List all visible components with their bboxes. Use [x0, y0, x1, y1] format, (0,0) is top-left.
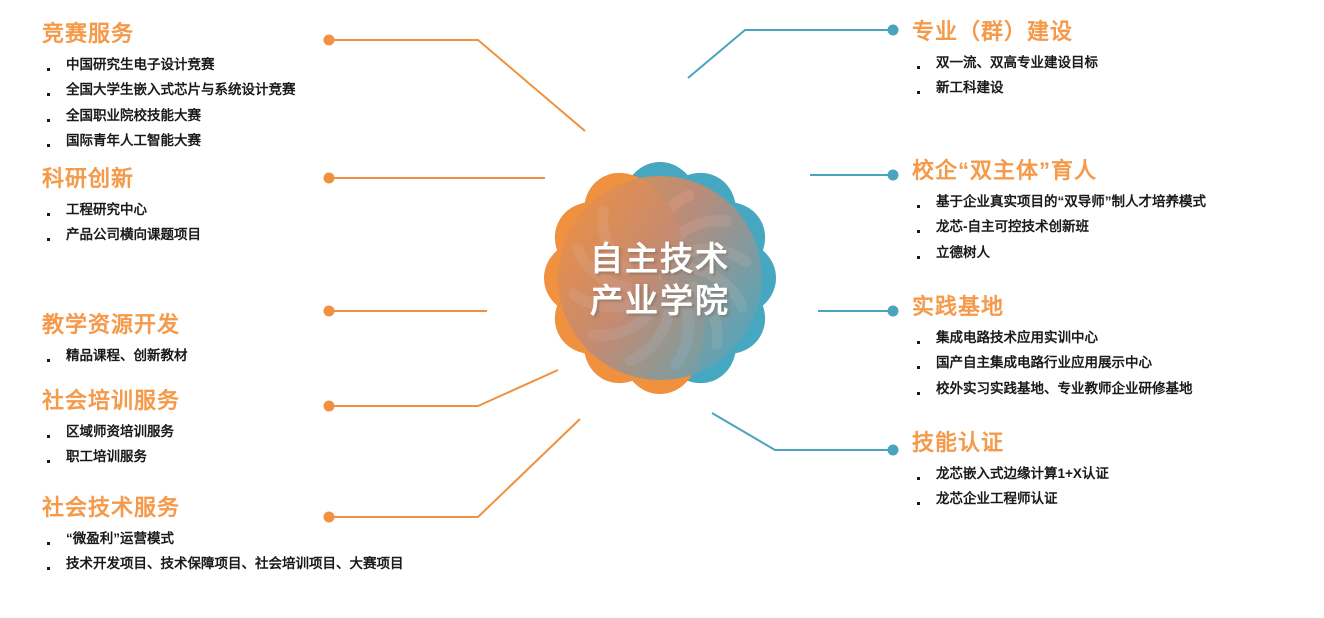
list-item: 立德树人 — [912, 246, 1206, 260]
central-flower-graphic: 自主技术 产业学院 — [460, 78, 860, 478]
list-item: 双一流、双高专业建设目标 — [912, 56, 1098, 70]
bullet-icon — [917, 502, 920, 505]
list-item-label: “微盈利”运营模式 — [66, 531, 174, 546]
list-item: 中国研究生电子设计竞赛 — [42, 58, 296, 72]
list-item: 精品课程、创新教材 — [42, 349, 188, 363]
list-item-label: 龙芯-自主可控技术创新班 — [936, 219, 1089, 234]
block-item-list: 集成电路技术应用实训中心 国产自主集成电路行业应用展示中心 校外实习实践基地、专… — [912, 331, 1193, 396]
list-item: 职工培训服务 — [42, 450, 180, 464]
block-title: 科研创新 — [42, 167, 201, 191]
bullet-icon — [917, 230, 920, 233]
block-title: 实践基地 — [912, 295, 1193, 319]
block-title: 教学资源开发 — [42, 313, 188, 337]
connector-dot-right-2 — [888, 170, 899, 181]
list-item: 工程研究中心 — [42, 203, 201, 217]
bullet-icon — [917, 66, 920, 69]
list-item-label: 产品公司横向课题项目 — [66, 227, 201, 242]
list-item-label: 全国大学生嵌入式芯片与系统设计竞赛 — [66, 82, 296, 97]
list-item: 龙芯-自主可控技术创新班 — [912, 220, 1206, 234]
bullet-icon — [917, 366, 920, 369]
bullet-icon — [47, 213, 50, 216]
block-title: 校企“双主体”育人 — [912, 159, 1206, 183]
block-practice-base: 实践基地 集成电路技术应用实训中心 国产自主集成电路行业应用展示中心 校外实习实… — [912, 295, 1193, 396]
list-item-label: 技术开发项目、技术保障项目、社会培训项目、大赛项目 — [66, 556, 404, 571]
infographic-canvas: 自主技术 产业学院 竞赛服务 中国研究生电子设计竞赛 全国大学生嵌入式芯片与系统… — [0, 0, 1324, 618]
block-title: 专业（群）建设 — [912, 20, 1098, 44]
block-social-technology-service: 社会技术服务 “微盈利”运营模式 技术开发项目、技术保障项目、社会培训项目、大赛… — [42, 496, 404, 572]
block-title: 社会培训服务 — [42, 389, 180, 413]
block-title: 社会技术服务 — [42, 496, 404, 520]
bullet-icon — [917, 256, 920, 259]
bullet-icon — [47, 119, 50, 122]
list-item: 基于企业真实项目的“双导师”制人才培养模式 — [912, 195, 1206, 209]
bullet-icon — [47, 460, 50, 463]
bullet-icon — [47, 144, 50, 147]
block-social-training-service: 社会培训服务 区域师资培训服务 职工培训服务 — [42, 389, 180, 465]
connector-dot-right-3 — [888, 306, 899, 317]
list-item: 集成电路技术应用实训中心 — [912, 331, 1193, 345]
block-item-list: 精品课程、创新教材 — [42, 349, 188, 363]
list-item-label: 职工培训服务 — [66, 449, 147, 464]
connector-dot-left-1 — [324, 35, 335, 46]
block-item-list: 双一流、双高专业建设目标 新工科建设 — [912, 56, 1098, 95]
list-item: 技术开发项目、技术保障项目、社会培训项目、大赛项目 — [42, 557, 404, 571]
list-item: 国际青年人工智能大赛 — [42, 134, 296, 148]
bullet-icon — [917, 91, 920, 94]
list-item-label: 全国职业院校技能大赛 — [66, 108, 201, 123]
block-item-list: 龙芯嵌入式边缘计算1+X认证 龙芯企业工程师认证 — [912, 467, 1109, 506]
list-item: 校外实习实践基地、专业教师企业研修基地 — [912, 382, 1193, 396]
connector-dot-right-4 — [888, 445, 899, 456]
connector-dot-right-1 — [888, 25, 899, 36]
list-item-label: 国际青年人工智能大赛 — [66, 133, 201, 148]
center-disc — [558, 176, 762, 380]
list-item-label: 区域师资培训服务 — [66, 424, 174, 439]
list-item-label: 新工科建设 — [936, 80, 1004, 95]
list-item-label: 集成电路技术应用实训中心 — [936, 330, 1098, 345]
bullet-icon — [47, 542, 50, 545]
block-research-innovation: 科研创新 工程研究中心 产品公司横向课题项目 — [42, 167, 201, 243]
block-item-list: 工程研究中心 产品公司横向课题项目 — [42, 203, 201, 242]
list-item-label: 立德树人 — [936, 245, 990, 260]
block-major-cluster-construction: 专业（群）建设 双一流、双高专业建设目标 新工科建设 — [912, 20, 1098, 96]
connector-dot-left-4 — [324, 401, 335, 412]
list-item: 新工科建设 — [912, 81, 1098, 95]
bullet-icon — [47, 93, 50, 96]
bullet-icon — [47, 68, 50, 71]
list-item: “微盈利”运营模式 — [42, 532, 404, 546]
list-item-label: 校外实习实践基地、专业教师企业研修基地 — [936, 381, 1193, 396]
list-item-label: 双一流、双高专业建设目标 — [936, 55, 1098, 70]
center-title-line2: 产业学院 — [590, 282, 730, 319]
block-item-list: 中国研究生电子设计竞赛 全国大学生嵌入式芯片与系统设计竞赛 全国职业院校技能大赛… — [42, 58, 296, 148]
list-item: 区域师资培训服务 — [42, 425, 180, 439]
connector-dot-left-2 — [324, 173, 335, 184]
block-school-enterprise-dual-subject: 校企“双主体”育人 基于企业真实项目的“双导师”制人才培养模式 龙芯-自主可控技… — [912, 159, 1206, 260]
connector-dot-left-3 — [324, 306, 335, 317]
list-item: 全国职业院校技能大赛 — [42, 109, 296, 123]
list-item: 产品公司横向课题项目 — [42, 228, 201, 242]
list-item: 龙芯嵌入式边缘计算1+X认证 — [912, 467, 1109, 481]
bullet-icon — [47, 238, 50, 241]
bullet-icon — [917, 205, 920, 208]
list-item-label: 基于企业真实项目的“双导师”制人才培养模式 — [936, 194, 1206, 209]
block-teaching-resource-development: 教学资源开发 精品课程、创新教材 — [42, 313, 188, 363]
bullet-icon — [47, 567, 50, 570]
block-title: 技能认证 — [912, 431, 1109, 455]
bullet-icon — [917, 341, 920, 344]
bullet-icon — [47, 359, 50, 362]
list-item-label: 龙芯企业工程师认证 — [936, 491, 1058, 506]
list-item-label: 工程研究中心 — [66, 202, 147, 217]
center-title-line1: 自主技术 — [590, 240, 730, 277]
block-item-list: 基于企业真实项目的“双导师”制人才培养模式 龙芯-自主可控技术创新班 立德树人 — [912, 195, 1206, 260]
list-item-label: 国产自主集成电路行业应用展示中心 — [936, 355, 1152, 370]
block-item-list: “微盈利”运营模式 技术开发项目、技术保障项目、社会培训项目、大赛项目 — [42, 532, 404, 571]
list-item: 国产自主集成电路行业应用展示中心 — [912, 356, 1193, 370]
block-skill-certification: 技能认证 龙芯嵌入式边缘计算1+X认证 龙芯企业工程师认证 — [912, 431, 1109, 507]
block-item-list: 区域师资培训服务 职工培训服务 — [42, 425, 180, 464]
connector-right-1 — [688, 30, 893, 78]
block-title: 竞赛服务 — [42, 22, 296, 46]
list-item-label: 精品课程、创新教材 — [66, 348, 188, 363]
bullet-icon — [917, 477, 920, 480]
bullet-icon — [47, 435, 50, 438]
block-competition-service: 竞赛服务 中国研究生电子设计竞赛 全国大学生嵌入式芯片与系统设计竞赛 全国职业院… — [42, 22, 296, 148]
bullet-icon — [917, 392, 920, 395]
list-item-label: 中国研究生电子设计竞赛 — [66, 57, 215, 72]
list-item-label: 龙芯嵌入式边缘计算1+X认证 — [936, 466, 1109, 481]
list-item: 龙芯企业工程师认证 — [912, 492, 1109, 506]
list-item: 全国大学生嵌入式芯片与系统设计竞赛 — [42, 83, 296, 97]
